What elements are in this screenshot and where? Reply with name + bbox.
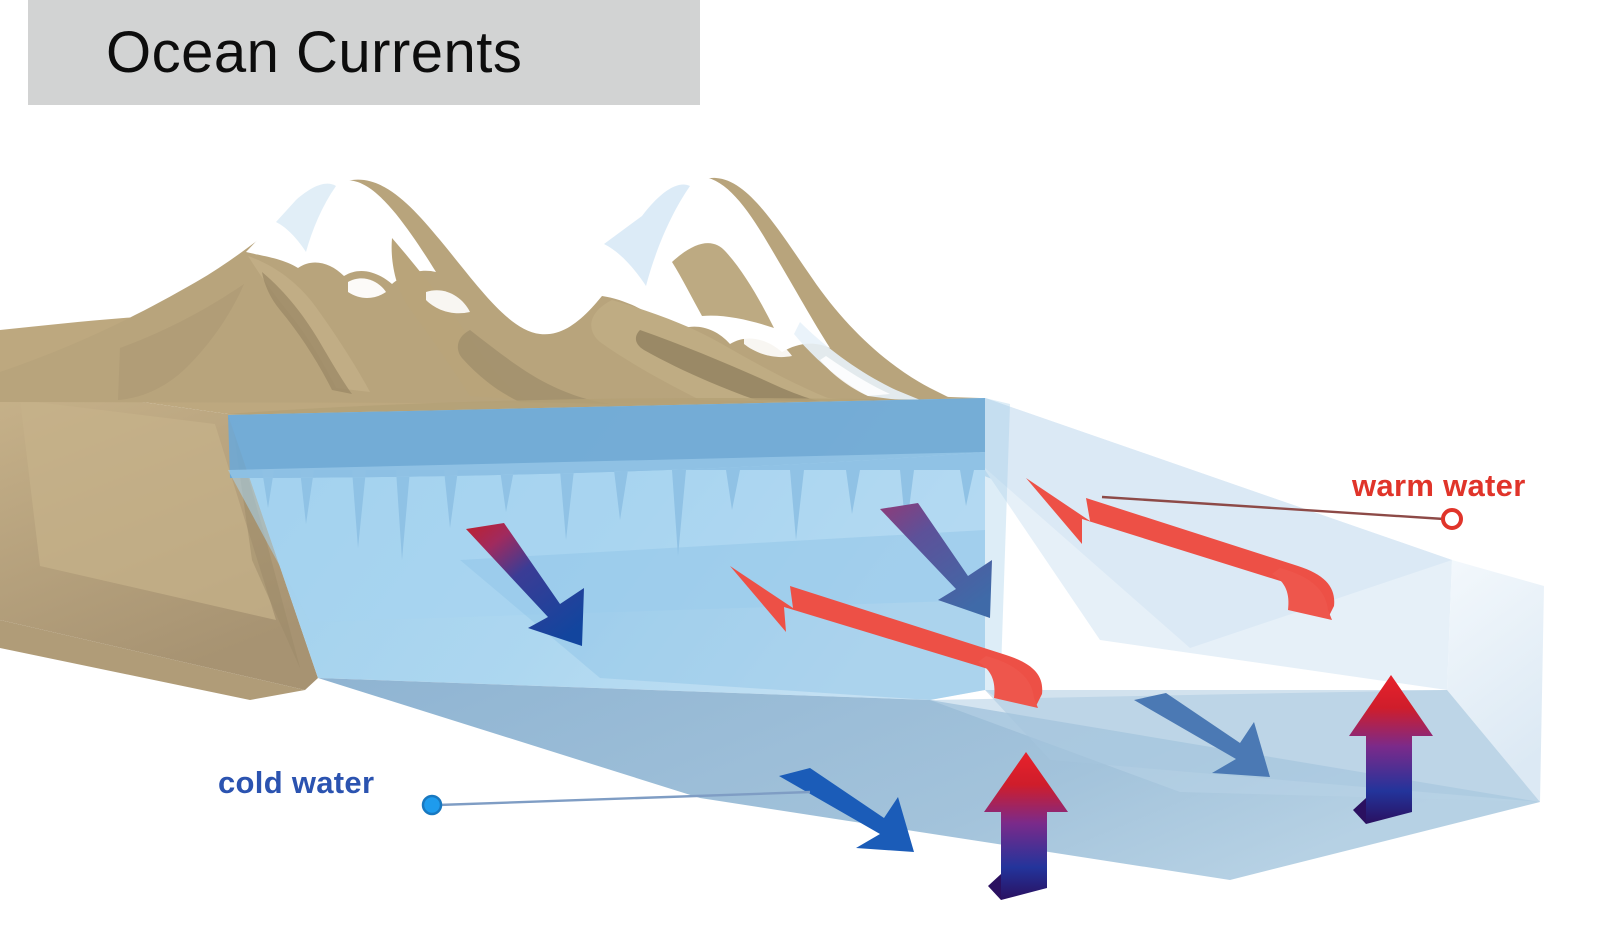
cold-water-label: cold water (218, 765, 374, 801)
warm-water-label: warm water (1352, 468, 1526, 504)
warm-leader-marker[interactable] (1443, 510, 1461, 528)
title-banner: Ocean Currents (28, 0, 700, 105)
cold-leader-marker[interactable] (423, 796, 441, 814)
page-title: Ocean Currents (106, 24, 522, 82)
upwelling-arrow-left-base (988, 874, 1001, 900)
mountain-range (0, 177, 985, 420)
diagram-canvas: Ocean Currents warm water cold water (0, 0, 1600, 944)
